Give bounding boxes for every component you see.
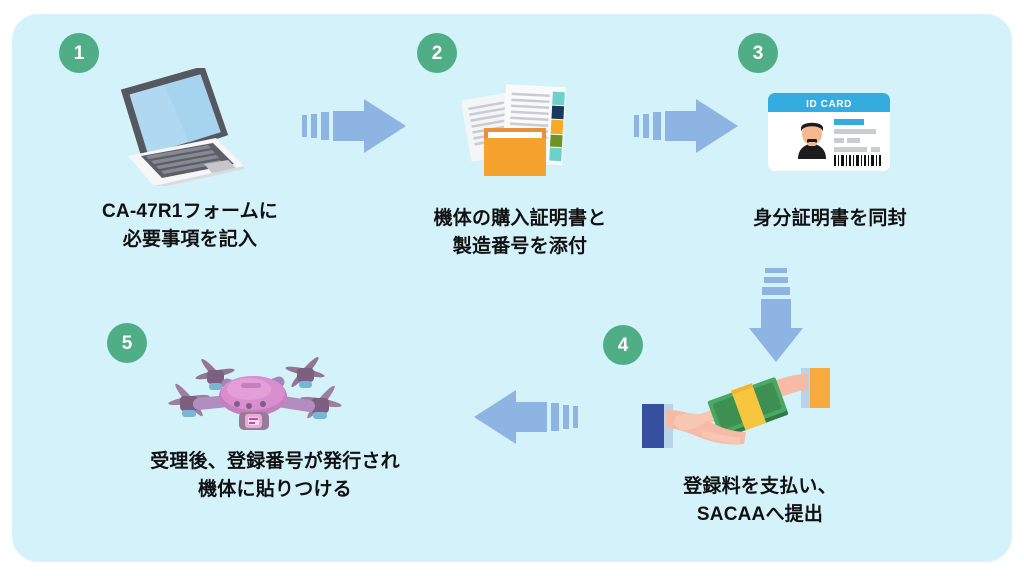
step-badge-3: 3 (738, 33, 778, 73)
step-caption-1: CA-47R1フォームに 必要事項を記入 (0, 198, 380, 253)
arrow-step1-to-step2 (302, 95, 408, 162)
step-badge-2: 2 (417, 33, 457, 73)
step-badge-5: 5 (107, 323, 147, 363)
laptop-icon (108, 68, 248, 186)
step-caption-5: 受理後、登録番号が発行され 機体に貼りつける (75, 448, 475, 503)
arrow-step3-to-step4 (745, 268, 807, 369)
step-caption-1-line2: 必要事項を記入 (0, 226, 380, 254)
step-caption-2-line2: 製造番号を添付 (370, 233, 670, 261)
step-caption-4: 登録料を支払い、 SACAAへ提出 (610, 473, 910, 528)
documents-folder-icon (462, 82, 582, 182)
step-caption-3: 身分証明書を同封 (690, 205, 970, 233)
step-badge-4: 4 (603, 325, 643, 365)
drone-icon (163, 352, 343, 448)
step-caption-5-line2: 機体に貼りつける (75, 476, 475, 504)
step-caption-5-line1: 受理後、登録番号が発行され (75, 448, 475, 476)
step-number-1: 1 (74, 44, 85, 63)
arrow-step2-to-step3 (634, 95, 740, 162)
step-number-4: 4 (618, 336, 629, 355)
step-caption-3-line1: 身分証明書を同封 (690, 205, 970, 233)
step-badge-1: 1 (59, 33, 99, 73)
step-caption-4-line2: SACAAへ提出 (610, 501, 910, 529)
money-handover-icon (640, 360, 836, 452)
id-card-icon: ID CARD (768, 93, 890, 171)
step-number-5: 5 (122, 334, 133, 353)
step-number-2: 2 (432, 44, 443, 63)
step-caption-4-line1: 登録料を支払い、 (610, 473, 910, 501)
arrow-step4-to-step5 (472, 386, 578, 453)
svg-text:ID CARD: ID CARD (806, 99, 852, 110)
step-caption-2-line1: 機体の購入証明書と (370, 205, 670, 233)
step-caption-1-line1: CA-47R1フォームに (0, 198, 380, 226)
infographic-root: 1 (0, 0, 1024, 576)
step-number-3: 3 (753, 44, 764, 63)
step-caption-2: 機体の購入証明書と 製造番号を添付 (370, 205, 670, 260)
